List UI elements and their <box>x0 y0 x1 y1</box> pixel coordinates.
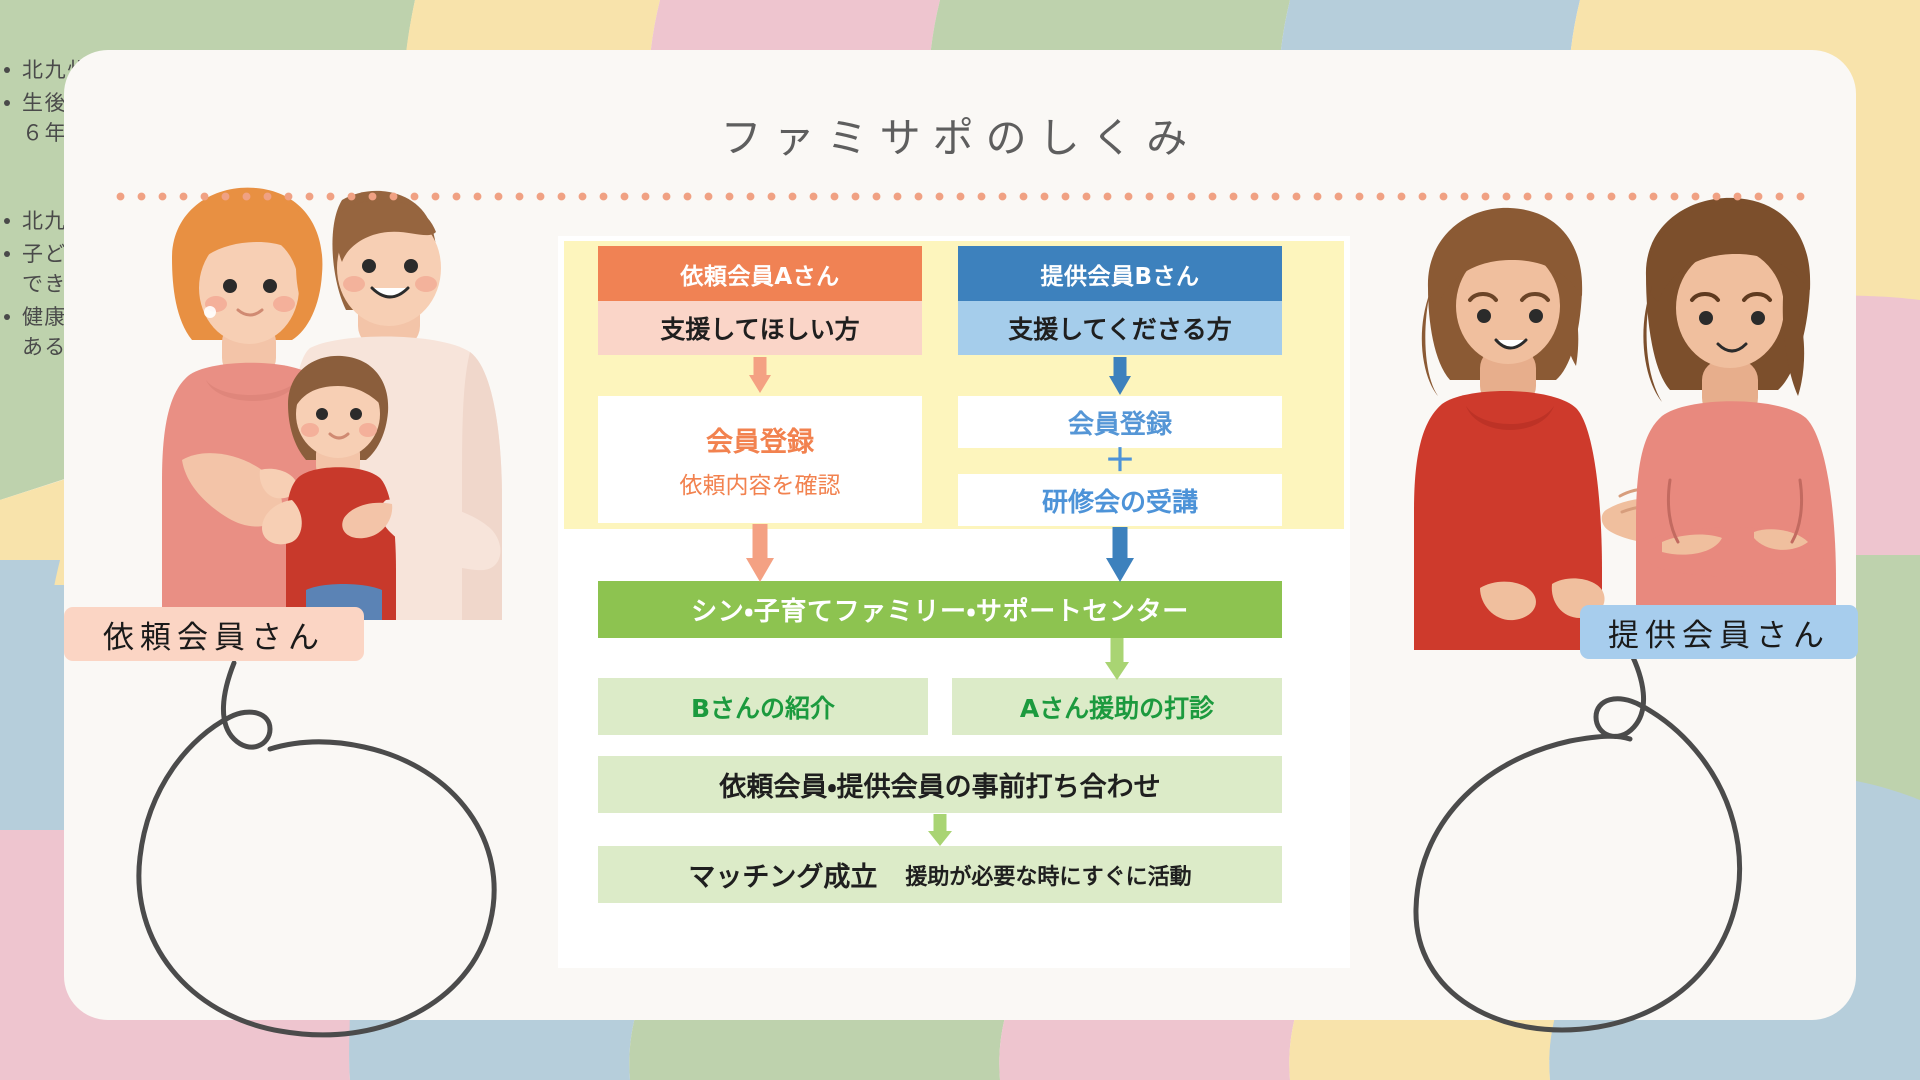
illustration-provider-women <box>1370 180 1840 650</box>
flow-panel: 依頼会員Aさん 支援してほしい方 会員登録 依頼内容を確認 提供会員Bさん 支援… <box>558 236 1350 968</box>
requester-header: 依頼会員Aさん <box>598 246 922 301</box>
arrow-meeting-matching <box>918 814 962 846</box>
dotted-divider <box>110 192 1810 201</box>
provider-register-box: 会員登録 <box>958 396 1282 448</box>
arrow-provider-center <box>1098 527 1142 582</box>
provider-plus-sign: ＋ <box>958 448 1282 474</box>
tag-requester-member: 依頼会員さん <box>64 607 364 661</box>
requester-register-box: 会員登録 依頼内容を確認 <box>598 396 922 523</box>
matching-label: マッチング成立 <box>688 855 877 894</box>
arrow-requester-register <box>738 357 782 393</box>
arrow-center-offer <box>1095 638 1139 680</box>
pre-meeting-box: 依頼会員・提供会員の事前打ち合わせ <box>598 756 1282 813</box>
support-center-bar: シン・子育てファミリー・サポートセンター <box>598 581 1282 638</box>
matching-box: マッチング成立 援助が必要な時にすぐに活動 <box>598 846 1282 903</box>
bubble-outline-left <box>118 655 538 1055</box>
requester-subtitle: 支援してほしい方 <box>598 301 922 355</box>
provider-training-box: 研修会の受講 <box>958 474 1282 526</box>
page-title: ファミサポのしくみ <box>0 104 1920 164</box>
requester-register-note: 依頼内容を確認 <box>680 466 841 500</box>
offer-a-box: Aさん援助の打診 <box>952 678 1282 735</box>
introduce-b-box: Bさんの紹介 <box>598 678 928 735</box>
arrow-provider-register <box>1098 357 1142 395</box>
matching-note: 援助が必要な時にすぐに活動 <box>905 859 1191 891</box>
provider-header: 提供会員Bさん <box>958 246 1282 301</box>
requester-register-title: 会員登録 <box>706 420 814 459</box>
provider-subtitle: 支援してくださる方 <box>958 301 1282 355</box>
arrow-requester-center <box>738 524 782 582</box>
bubble-outline-right <box>1410 645 1840 1055</box>
illustration-requester-family <box>110 170 530 620</box>
tag-provider-member: 提供会員さん <box>1580 605 1858 659</box>
